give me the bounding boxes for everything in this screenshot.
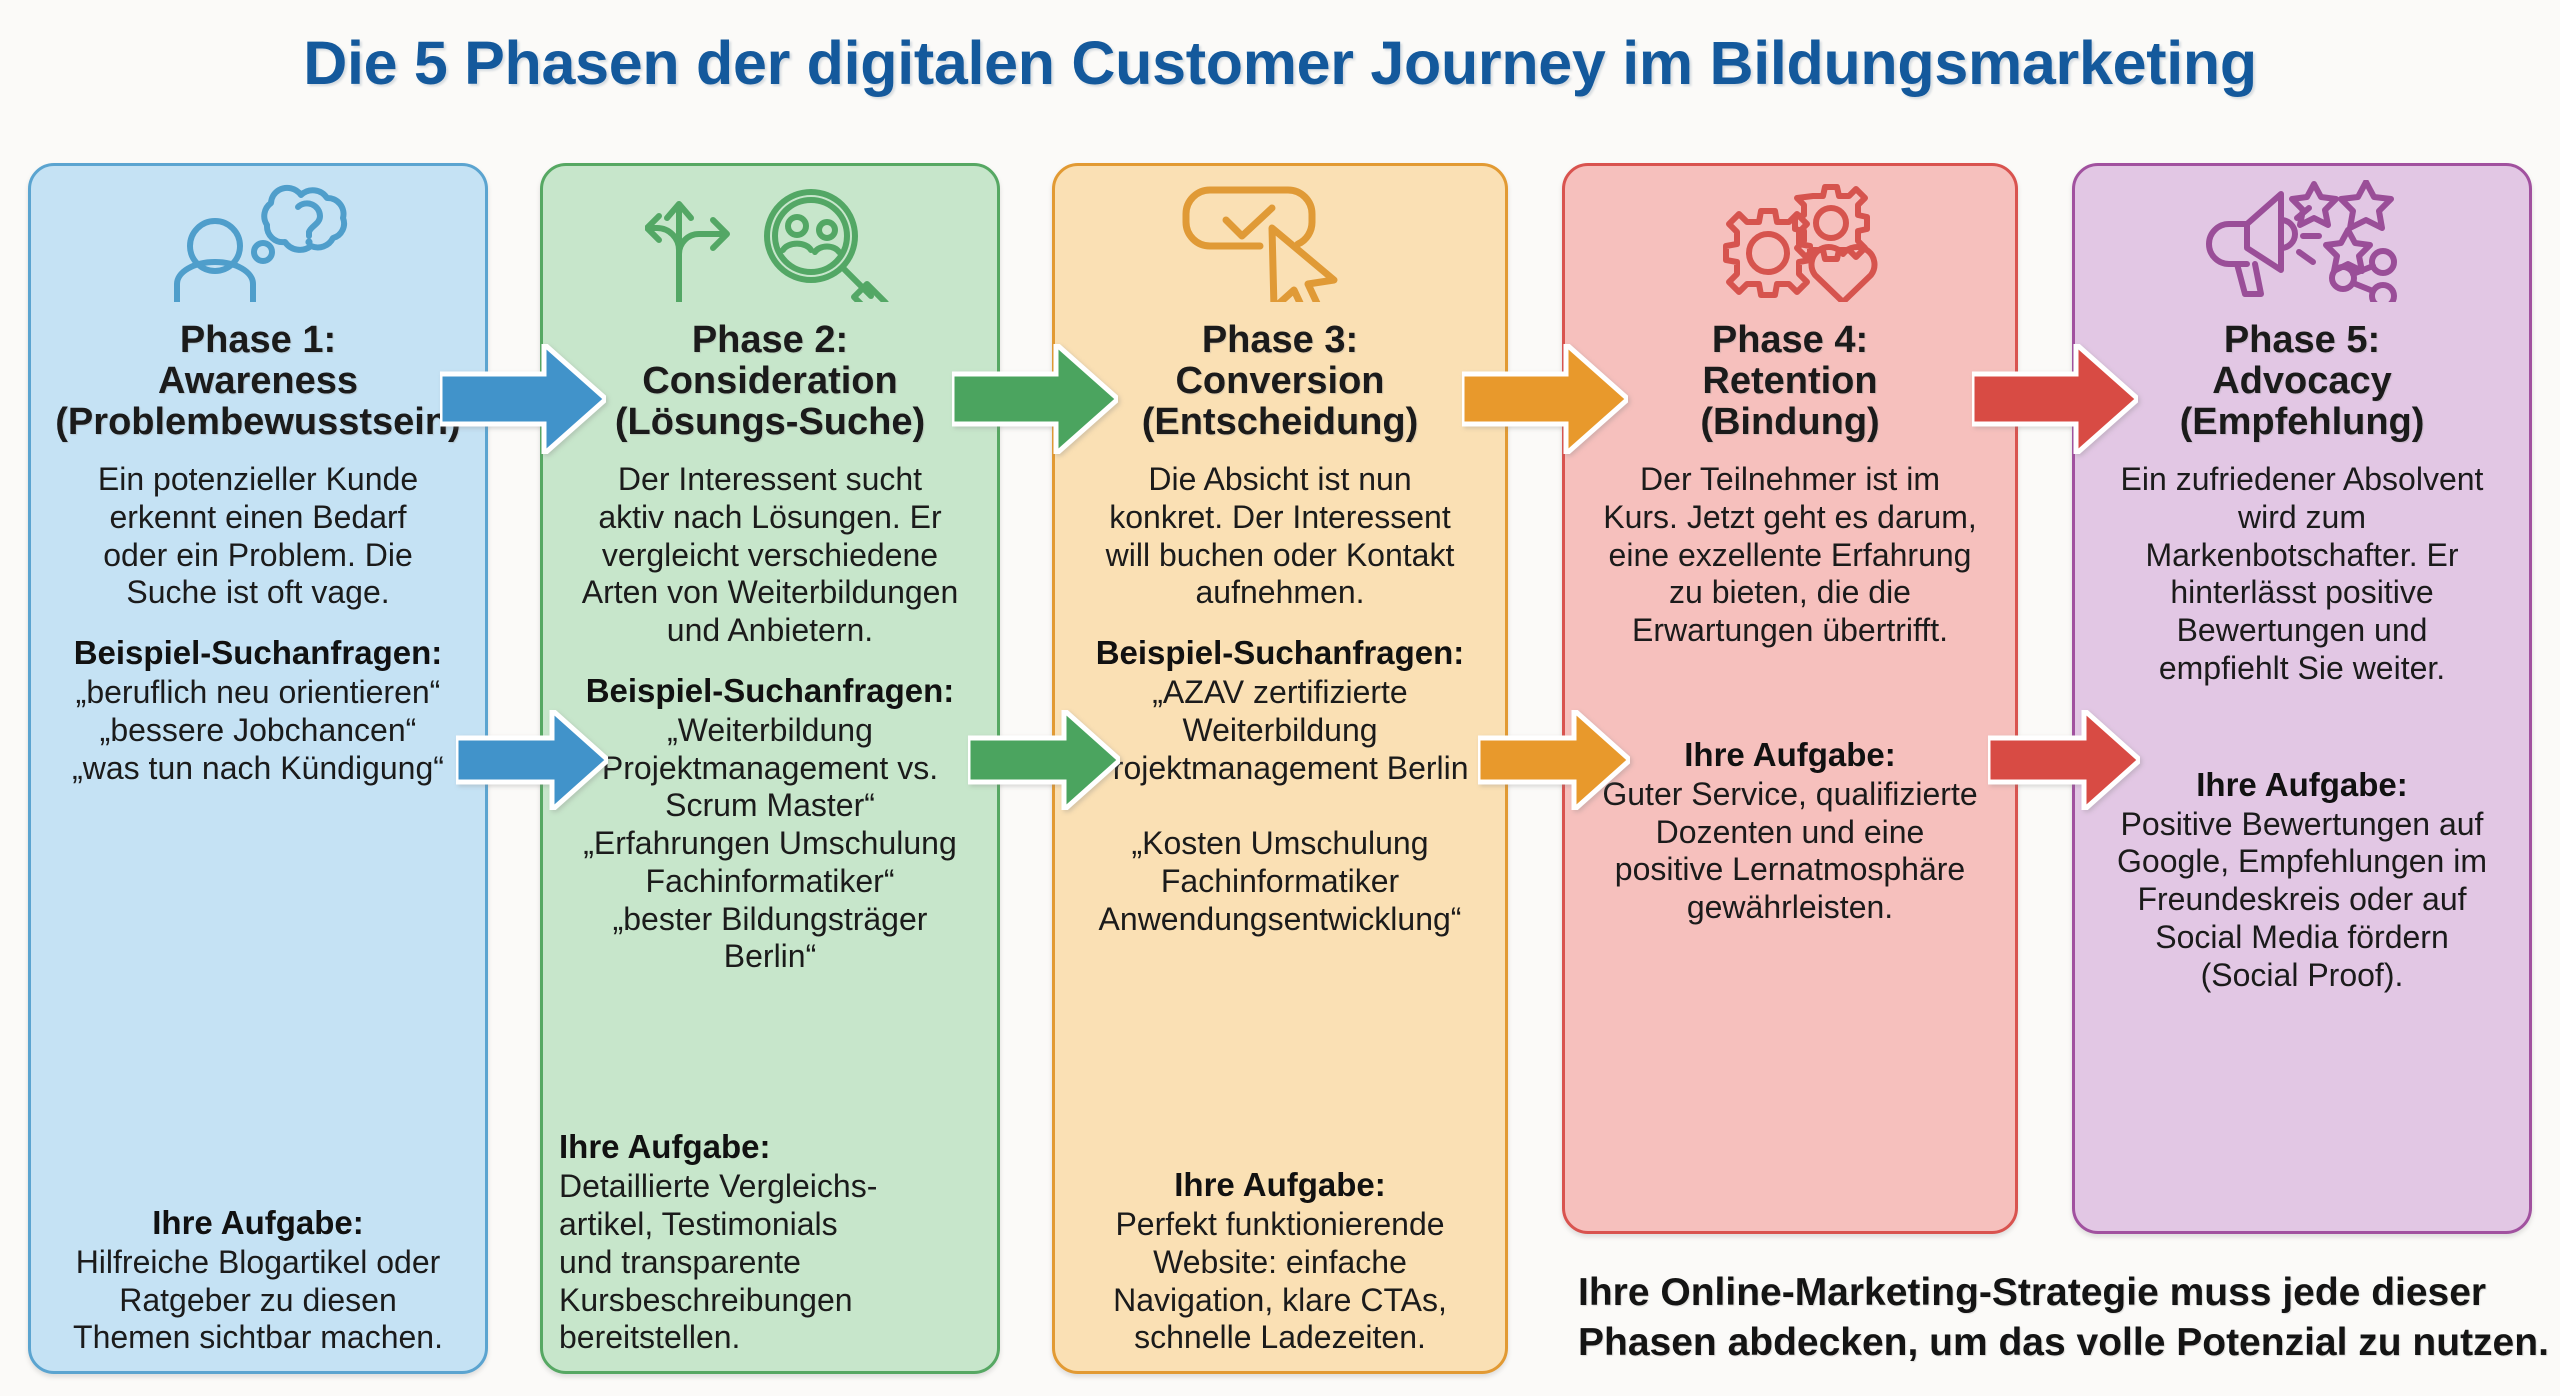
task-block: Ihre Aufgabe: Positive Bewertungen auf G… [2091,744,2513,995]
phase-description: Der Interessent sucht aktiv nach Lösunge… [582,461,959,650]
task-text: Guter Service, qualifizierte Dozenten un… [1581,776,1999,927]
checkmark-button-cursor-icon [1180,184,1380,302]
flow-arrow-3-upper [1462,344,1628,459]
phase-title: Phase 3: Conversion (Entscheidung) [1142,320,1419,443]
phase-title: Phase 5: Advocacy (Empfehlung) [2180,320,2425,443]
phase-title: Phase 4: Retention (Bindung) [1700,320,1879,443]
phase-description: Ein potenzieller Kunde erkennt einen Bed… [98,461,418,612]
phase-description: Der Teilnehmer ist im Kurs. Jetzt geht e… [1603,461,1977,650]
task-label: Ihre Aufgabe: [1071,1166,1489,1204]
task-block: Ihre Aufgabe: Hilfreiche Blogartikel ode… [47,1182,469,1357]
phase-card-1: Phase 1: Awareness (Problembewusstsein) … [28,163,488,1374]
page-title: Die 5 Phasen der digitalen Customer Jour… [0,28,2560,98]
person-thought-bubble-question-icon [153,184,363,302]
task-block: Ihre Aufgabe: Detaillierte Vergleichs- a… [559,1106,981,1357]
task-label: Ihre Aufgabe: [2091,766,2513,804]
task-text: Positive Bewertungen auf Google, Empfehl… [2091,806,2513,995]
task-label: Ihre Aufgabe: [47,1204,469,1242]
megaphone-stars-share-icon [2187,184,2417,302]
flow-arrow-4-lower [1988,710,2140,815]
flow-arrow-2-upper [952,344,1118,459]
example-queries: „AZAV zertifizierte Weiterbildung Projek… [1091,674,1468,938]
flow-arrow-2-lower [968,710,1120,815]
queries-label: Beispiel-Suchanfragen: [74,634,443,672]
flow-arrow-1-lower [456,710,608,815]
gears-heart-icon [1685,184,1895,302]
task-text: Hilfreiche Blogartikel oder Ratgeber zu … [47,1244,469,1357]
flow-arrow-3-lower [1478,710,1630,815]
phase-description: Ein zufriedener Absolvent wird zum Marke… [2121,461,2484,688]
footer-callout: Ihre Online-Marketing-Strategie muss jed… [1578,1268,2558,1368]
phase-card-5: Phase 5: Advocacy (Empfehlung) Ein zufri… [2072,163,2532,1234]
branching-arrows-magnifier-people-icon [645,184,895,302]
queries-label: Beispiel-Suchanfragen: [586,672,955,710]
phase-card-4: Phase 4: Retention (Bindung) Der Teilneh… [1562,163,2018,1234]
task-text: Perfekt funktionierende Website: einfach… [1071,1206,1489,1357]
flow-arrow-1-upper [440,344,606,459]
task-label: Ihre Aufgabe: [1581,736,1999,774]
phase-title: Phase 2: Consideration (Lösungs-Suche) [615,320,925,443]
infographic-canvas: Die 5 Phasen der digitalen Customer Jour… [0,0,2560,1396]
phase-description: Die Absicht ist nun konkret. Der Interes… [1106,461,1455,612]
task-block: Ihre Aufgabe: Guter Service, qualifizier… [1581,714,1999,927]
task-text: Detaillierte Vergleichs- artikel, Testim… [559,1168,981,1357]
task-block: Ihre Aufgabe: Perfekt funktionierende We… [1071,1144,1489,1357]
phase-title: Phase 1: Awareness (Problembewusstsein) [55,320,460,443]
task-label: Ihre Aufgabe: [559,1128,981,1166]
example-queries: „beruflich neu orientieren“ „bessere Job… [72,674,444,787]
phase-card-3: Phase 3: Conversion (Entscheidung) Die A… [1052,163,1508,1374]
queries-label: Beispiel-Suchanfragen: [1096,634,1465,672]
example-queries: „Weiterbildung Projektmanagement vs. Scr… [583,712,957,976]
phase-card-2: Phase 2: Consideration (Lösungs-Suche) D… [540,163,1000,1374]
flow-arrow-4-upper [1972,344,2138,459]
